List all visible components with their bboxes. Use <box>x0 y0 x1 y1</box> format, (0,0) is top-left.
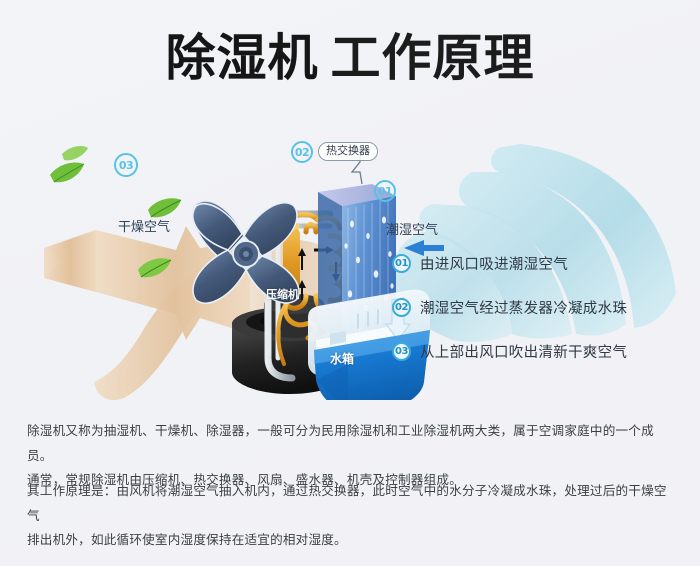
legend-item: 03 从上部出风口吹出清新干爽空气 <box>392 340 692 362</box>
body-paragraph-2: 其工作原理是：由风机将潮湿空气抽入机内，通过热交换器，此时空气中的水分子冷凝成水… <box>27 479 675 553</box>
page-title-sub: 工作原理 <box>331 29 535 87</box>
page-title: 除湿机工作原理 <box>0 33 700 83</box>
body-paragraph-2-line-2: 排出机外，如此循环使室内湿度保持在适宜的相对湿度。 <box>27 528 675 553</box>
body-paragraph-2-line-1: 其工作原理是：由风机将潮湿空气抽入机内，通过热交换器，此时空气中的水分子冷凝成水… <box>27 479 675 528</box>
diagram-label-dry-air: 干燥空气 <box>118 216 170 235</box>
legend-badge-03: 03 <box>392 342 411 361</box>
diagram-label-humid-air: 潮湿空气 <box>386 219 438 238</box>
legend-badge-02: 02 <box>392 298 411 317</box>
legend-item: 02 潮湿空气经过蒸发器冷凝成水珠 <box>392 296 692 318</box>
diagram-label-water-tank: 水箱 <box>330 350 354 367</box>
page-title-main: 除湿机 <box>166 29 319 87</box>
process-legend: 01 由进风口吸进潮湿空气 02 潮湿空气经过蒸发器冷凝成水珠 03 从上部出风… <box>392 252 692 384</box>
diagram-badge-dry-air: 03 <box>114 153 138 177</box>
diagram-callout-heat-exchanger: 热交换器 <box>318 142 378 161</box>
page-root: 除湿机工作原理 <box>0 0 700 566</box>
legend-text-01: 由进风口吸进潮湿空气 <box>420 253 568 274</box>
legend-text-03: 从上部出风口吹出清新干爽空气 <box>420 341 627 362</box>
diagram-badge-heat-exchanger: 02 <box>291 141 313 163</box>
legend-item: 01 由进风口吸进潮湿空气 <box>392 252 692 274</box>
legend-text-02: 潮湿空气经过蒸发器冷凝成水珠 <box>420 297 627 318</box>
diagram-label-compressor: 压缩机 <box>266 286 299 302</box>
diagram-badge-humid-air: 01 <box>374 180 396 202</box>
legend-badge-01: 01 <box>392 254 411 273</box>
body-paragraph-1-line-1: 除湿机又称为抽湿机、干燥机、除湿器，一般可分为民用除湿机和工业除湿机两大类，属于… <box>27 419 675 468</box>
